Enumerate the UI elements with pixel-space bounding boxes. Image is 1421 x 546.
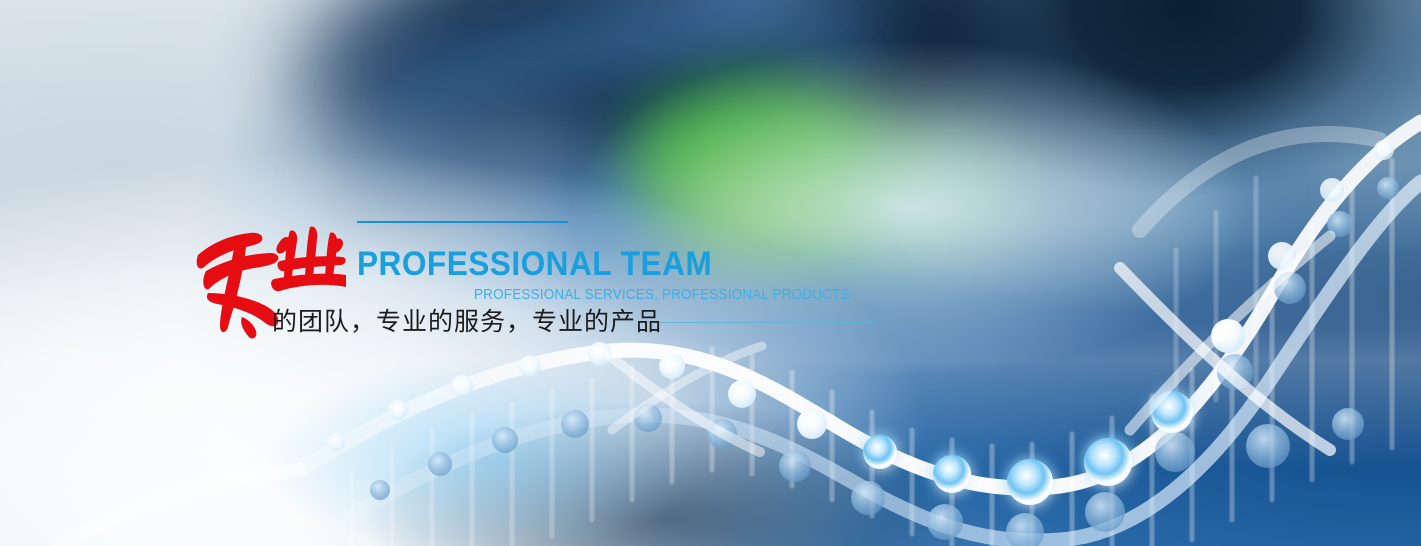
headline: PROFESSIONAL TEAM [357, 244, 712, 284]
hero-banner: PROFESSIONAL TEAM PROFESSIONAL SERVICES,… [0, 0, 1421, 546]
divider-line-top [357, 221, 568, 223]
chinese-tagline: 的团队，专业的服务，专业的产品 [272, 306, 662, 338]
banner-copy-block: PROFESSIONAL TEAM PROFESSIONAL SERVICES,… [0, 0, 1421, 546]
divider-line-bottom [660, 322, 875, 323]
subheadline: PROFESSIONAL SERVICES, PROFESSIONAL PROD… [474, 286, 850, 304]
